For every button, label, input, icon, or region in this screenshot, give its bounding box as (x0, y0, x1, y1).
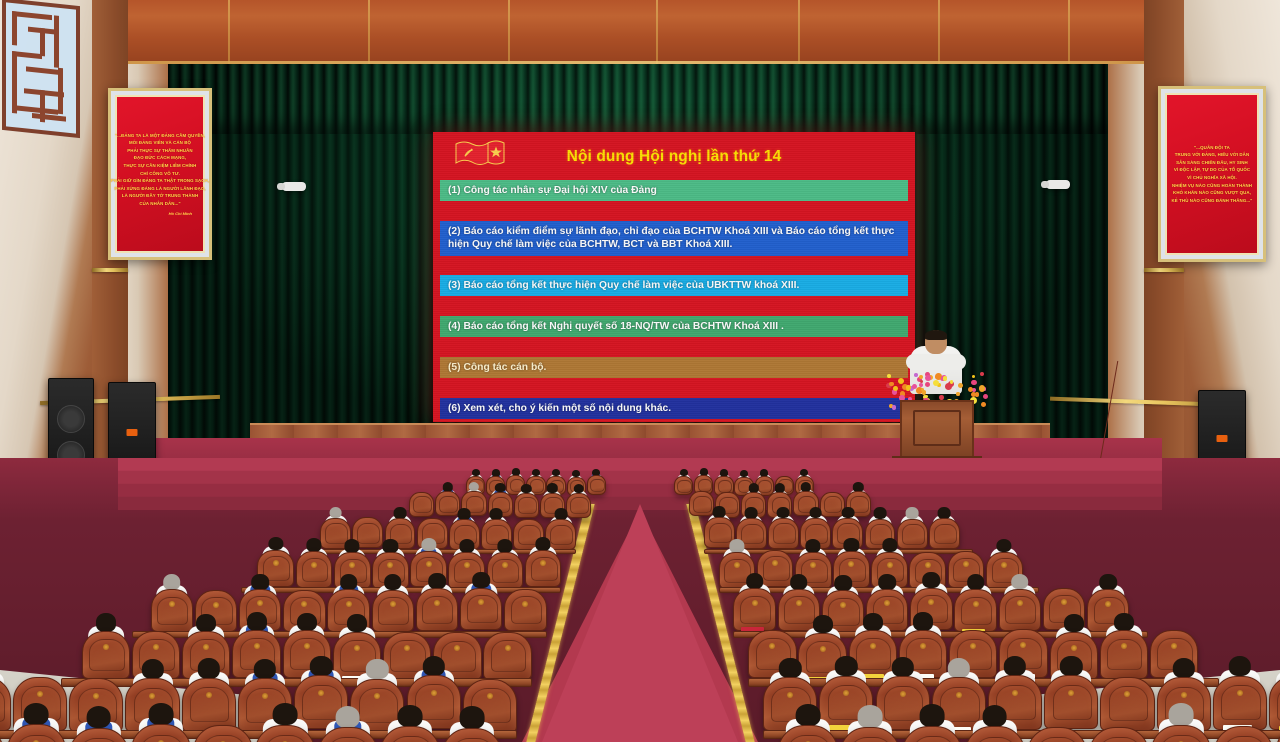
audience-head (948, 658, 970, 678)
audience-head (863, 613, 883, 631)
gold-trim-right (1144, 268, 1184, 272)
audience-head (746, 573, 764, 589)
plaque-right-inner: "...QUÂN ĐỘI TATRUNG VỚI ĐẢNG, HIẾU VỚI … (1165, 93, 1259, 255)
seat-emblem-icon (1012, 690, 1018, 696)
conference-hall-scene: "...ĐẢNG TA LÀ MỘT ĐẢNG CẦM QUYỀN,MỖI ĐẢ… (0, 0, 1280, 742)
seat-emblem-icon (956, 692, 962, 698)
flower (943, 376, 947, 380)
audience-head (1114, 613, 1134, 631)
auditorium-seat[interactable] (999, 589, 1041, 631)
seating-block-right[interactable] (0, 458, 1280, 742)
audience-head (1064, 614, 1084, 632)
wooden-podium (900, 400, 974, 458)
audience-head (809, 507, 822, 519)
slide-row-6: (6) Xem xét, cho ý kiến một số nội dung … (440, 398, 908, 419)
plaque_left-line: MỖI ĐẢNG VIÊN VÀ CÁN BỘ (129, 139, 191, 147)
slide-row-3: (3) Báo cáo tổng kết thực hiện Quy chế l… (440, 275, 908, 296)
gold-trim-left (92, 268, 128, 272)
flower (919, 375, 923, 379)
auditorium-seat[interactable] (1100, 677, 1154, 731)
seat-emblem-icon (796, 600, 802, 606)
auditorium-seat[interactable] (1100, 630, 1148, 678)
audience-head (813, 615, 833, 633)
audience-head (844, 538, 859, 552)
audience-head (806, 539, 821, 553)
seat-emblem-icon (1001, 562, 1007, 568)
audience-head (841, 507, 854, 519)
plaque_right-line: NHIỆM VỤ NÀO CŨNG HOÀN THÀNH (1172, 182, 1252, 190)
seat-emblem-icon (925, 562, 931, 568)
seat-emblem-icon (772, 560, 778, 566)
flower (919, 383, 923, 387)
seat-emblem-icon (1124, 691, 1130, 697)
seat-emblem-icon (887, 562, 893, 568)
slide-header: Nội dung Hội nghị lần thứ 14 (438, 136, 910, 178)
flower (893, 386, 898, 391)
audience-head (920, 704, 945, 726)
flower (887, 374, 891, 378)
audience-head (1229, 656, 1251, 676)
audience-head (878, 574, 896, 590)
seat-emblem-icon (843, 690, 849, 696)
audience-head (923, 572, 941, 588)
wall-plaque-right: "...QUÂN ĐỘI TATRUNG VỚI ĐẢNG, HIẾU VỚI … (1158, 86, 1266, 262)
flower (925, 382, 930, 387)
seat-emblem-icon (769, 643, 775, 649)
seat-emblem-icon (734, 562, 740, 568)
plaque_left-line: CỦA NHÂN DÂN..." (139, 200, 180, 208)
podium-area (884, 330, 988, 458)
slide-content-rows: (1) Công tác nhân sự Đại hội XIV của Đản… (438, 178, 910, 419)
plaque_left-line: LÀ NGƯỜI ĐẦY TỚ TRUNG THÀNH (122, 192, 198, 200)
auditorium-seat[interactable] (1213, 676, 1267, 730)
seat-emblem-icon (970, 643, 976, 649)
seat-emblem-icon (1171, 643, 1177, 649)
audience-head (997, 539, 1012, 553)
auditorium-seat[interactable] (954, 589, 996, 631)
plaque_right-line: "...QUÂN ĐỘI TA (1194, 144, 1230, 152)
seat-emblem-icon (1061, 599, 1067, 605)
plaque_right-line: SẴN SÀNG CHIẾN ĐẤU, HY SINH (1176, 159, 1248, 167)
audience-head (1169, 703, 1194, 725)
plaque-left-inner: "...ĐẢNG TA LÀ MỘT ĐẢNG CẦM QUYỀN,MỖI ĐẢ… (115, 95, 205, 253)
audience-head (982, 705, 1007, 727)
audience-head (800, 469, 808, 476)
audience-head (1004, 656, 1026, 676)
flower (898, 378, 904, 384)
party-flag-emblem-icon (454, 138, 512, 168)
flower (980, 372, 984, 376)
seat-emblem-icon (1121, 643, 1127, 649)
seat-emblem-icon (1071, 645, 1077, 651)
slide-row-5: (5) Công tác cán bộ. (440, 357, 908, 378)
flower (945, 383, 952, 390)
seat-emblem-icon (928, 599, 934, 605)
audience-head (874, 507, 887, 519)
audience-head (777, 507, 790, 519)
plaque_left-line: THỰC SỰ CẦN KIỆM LIÊM CHÍNH (124, 162, 197, 170)
seat-emblem-icon (810, 562, 816, 568)
podium-front-panel (913, 410, 961, 446)
audience-head (891, 657, 913, 677)
slide-row-1: (1) Công tác nhân sự Đại hội XIV của Đản… (440, 180, 908, 201)
slide-row-4: (4) Báo cáo tổng kết Nghị quyết số 18-NQ… (440, 316, 908, 337)
slide-row-2: (2) Báo cáo kiểm điểm sự lãnh đạo, chỉ đ… (440, 221, 908, 256)
flower (933, 380, 939, 386)
seat-emblem-icon (848, 561, 854, 567)
plaque_left-line: CHÍ CÔNG VÔ TƯ. (140, 170, 180, 178)
seat-emblem-icon (1068, 690, 1074, 696)
led-presentation-screen[interactable]: Nội dung Hội nghị lần thứ 14 (1) Công tá… (433, 132, 915, 422)
plaque_left-line: PHẢI THỰC SỰ THẤM NHUẦN (127, 147, 192, 155)
plaque_left-signature: Hồ Chí Minh (169, 211, 192, 216)
seat-emblem-icon (787, 692, 793, 698)
audience-head (882, 538, 897, 552)
seat-emblem-icon (840, 602, 846, 608)
lattice-window-icon (2, 0, 80, 138)
flower (906, 385, 911, 390)
audience-head (779, 658, 801, 678)
seat-emblem-icon (920, 643, 926, 649)
audience-head (858, 705, 883, 727)
audience-head (1060, 656, 1082, 676)
flower (912, 384, 917, 389)
audience-head (796, 704, 821, 726)
seat-emblem-icon (1017, 600, 1023, 606)
audience-head (913, 612, 933, 630)
presenter-shoulders (906, 354, 966, 370)
plaque_right-line: KẺ THÙ NÀO CŨNG ĐÁNH THẮNG..." (1172, 197, 1253, 205)
auditorium-seat[interactable] (733, 588, 775, 630)
audience-head (745, 507, 758, 519)
auditorium-seat[interactable] (1269, 676, 1280, 730)
ceiling-soffit (108, 0, 1172, 64)
flower (972, 375, 975, 378)
flower (925, 375, 931, 381)
plaque_right-line: VÌ ĐỘC LẬP, TỰ DO CỦA TỔ QUỐC (1174, 166, 1250, 174)
audience-head (740, 470, 748, 477)
spotlight-left (282, 182, 306, 191)
flower (939, 395, 944, 400)
seat-emblem-icon (752, 600, 758, 606)
seat-emblem-icon (900, 691, 906, 697)
flower (979, 385, 986, 392)
flower (958, 383, 963, 388)
audience-head (1173, 658, 1195, 678)
wall-plaque-left: "...ĐẢNG TA LÀ MỘT ĐẢNG CẦM QUYỀN,MỖI ĐẢ… (108, 88, 212, 260)
audience-area (0, 458, 1280, 742)
flower (981, 402, 986, 407)
spotlight-right (1046, 180, 1070, 189)
plaque_left-line: PHẢI GIỮ GÌN ĐẢNG TA THẬT TRONG SẠCH, (111, 177, 209, 185)
seat-emblem-icon (973, 601, 979, 607)
audience-head (967, 574, 985, 590)
plaque_left-line: PHẢI XỨNG ĐÁNG LÀ NGƯỜI LÃNH ĐẠO, (114, 185, 205, 193)
auditorium-seat[interactable] (674, 476, 693, 495)
presenter-hair (925, 330, 947, 340)
seat-emblem-icon (1020, 642, 1026, 648)
audience-head (835, 656, 857, 676)
flower (892, 405, 897, 410)
seat-emblem-icon (870, 643, 876, 649)
plaque_left-line: "...ĐẢNG TA LÀ MỘT ĐẢNG CẦM QUYỀN, (115, 132, 205, 140)
seat-emblem-icon (1237, 690, 1243, 696)
plaque_right-line: KHÓ KHĂN NÀO CŨNG VƯỢT QUA, (1173, 189, 1251, 197)
audience-head (790, 574, 808, 590)
flower (983, 394, 988, 399)
plaque_left-line: ĐẠO ĐỨC CÁCH MẠNG, (134, 154, 187, 162)
audience-head (906, 507, 919, 519)
audience-head (1099, 574, 1117, 590)
plaque_right-line: TRUNG VỚI ĐẢNG, HIẾU VỚI DÂN (1175, 151, 1249, 159)
plaque_right-line: VÌ CHỦ NGHĨA XÃ HỘI. (1187, 174, 1237, 182)
flower (956, 392, 960, 396)
flower (971, 380, 977, 386)
audience-head (713, 506, 726, 518)
audience-head (834, 575, 852, 591)
auditorium-seat[interactable] (768, 518, 799, 549)
flower (914, 373, 918, 377)
seat-emblem-icon (820, 646, 826, 652)
seat-emblem-icon (1181, 692, 1187, 698)
auditorium-seat[interactable] (1044, 675, 1098, 729)
audience-head (938, 507, 951, 519)
audience-head (729, 539, 744, 553)
seat-emblem-icon (1105, 601, 1111, 607)
audience-head (1011, 574, 1029, 590)
seat-emblem-icon (884, 600, 890, 606)
auditorium-seat[interactable] (929, 518, 960, 549)
seat-emblem-icon (963, 561, 969, 567)
flower (975, 392, 979, 396)
